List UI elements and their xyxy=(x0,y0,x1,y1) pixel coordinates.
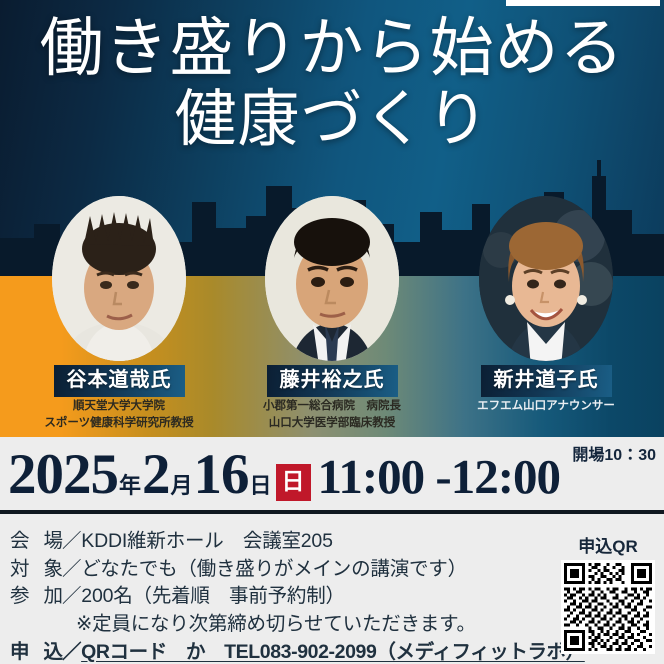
event-poster: 働き盛りから始める 健康づくり xyxy=(0,0,664,664)
qr-code[interactable] xyxy=(561,560,655,654)
speaker-portrait xyxy=(52,196,186,361)
event-month: 2 xyxy=(142,446,170,503)
detail-row-audience: 対象／どなたでも（働き盛りがメインの講演です） xyxy=(10,556,558,584)
event-details-section: 会場／KDDI維新ホール 会議室205 対象／どなたでも（働き盛りがメインの講演… xyxy=(0,514,664,664)
apply-separator: ／ xyxy=(62,641,81,663)
event-date-section: 開場10：30 2025 年 2 月 16 日 日 11:00 -12:00 xyxy=(0,437,664,512)
detail-label: 参加 xyxy=(10,583,62,611)
apply-label: 申込 xyxy=(10,639,62,664)
speaker-affiliation-line-1: エフエム山口アナウンサー xyxy=(446,399,646,414)
title-line-1: 働き盛りから始める xyxy=(0,14,664,83)
qr-block: 申込QR xyxy=(558,532,658,654)
detail-value: ／どなたでも（働き盛りがメインの講演です） xyxy=(62,558,467,580)
detail-row-apply: 申込／QRコード か TEL083-902-2099（メディフィットラボ） xyxy=(10,639,558,664)
poster-title: 働き盛りから始める 健康づくり xyxy=(0,14,664,154)
detail-label: 対象 xyxy=(10,556,62,584)
detail-row-venue: 会場／KDDI維新ホール 会議室205 xyxy=(10,528,558,556)
speaker-portrait xyxy=(479,196,613,361)
detail-label: 会場 xyxy=(10,528,62,556)
speaker-card: 谷本道哉氏 順天堂大学大学院 スポーツ健康科学研究所教授 xyxy=(19,196,219,431)
event-year: 2025 xyxy=(8,446,118,503)
portrait-illustration xyxy=(52,196,186,361)
month-unit-label: 月 xyxy=(170,475,194,497)
year-unit-label: 年 xyxy=(118,475,142,497)
portrait-illustration xyxy=(265,196,399,361)
day-of-week-badge: 日 xyxy=(276,464,311,501)
qr-label: 申込QR xyxy=(558,532,658,557)
apply-value[interactable]: QRコード か TEL083-902-2099（メディフィットラボ） xyxy=(81,641,585,663)
details-list: 会場／KDDI維新ホール 会議室205 対象／どなたでも（働き盛りがメインの講演… xyxy=(10,528,558,664)
capacity-note: ※定員になり次第締め切らせていただきます。 xyxy=(10,611,558,639)
detail-row-capacity: 参加／200名（先着順 事前予約制） xyxy=(10,583,558,611)
speaker-card: 新井道子氏 エフエム山口アナウンサー xyxy=(446,196,646,414)
event-time: 11:00 -12:00 xyxy=(318,452,561,501)
speaker-list: 谷本道哉氏 順天堂大学大学院 スポーツ健康科学研究所教授 xyxy=(0,196,664,437)
speaker-affiliation-line-1: 順天堂大学大学院 xyxy=(19,399,219,414)
speaker-affiliation-line-1: 小郡第一総合病院 病院長 xyxy=(232,399,432,414)
speaker-portrait xyxy=(265,196,399,361)
doors-open-time: 開場10：30 xyxy=(572,441,656,465)
title-line-2: 健康づくり xyxy=(0,87,664,154)
detail-value: ／KDDI維新ホール 会議室205 xyxy=(62,530,333,552)
speaker-name: 藤井裕之氏 xyxy=(267,365,398,397)
speaker-name: 新井道子氏 xyxy=(481,365,612,397)
qr-code-icon xyxy=(564,563,652,651)
event-datetime: 2025 年 2 月 16 日 日 11:00 -12:00 xyxy=(8,446,560,505)
portrait-illustration xyxy=(479,196,613,361)
speaker-affiliation-line-2: スポーツ健康科学研究所教授 xyxy=(19,416,219,431)
day-unit-label: 日 xyxy=(249,475,273,497)
event-day: 16 xyxy=(194,446,249,503)
top-accent-bar xyxy=(506,0,660,6)
speaker-card: 藤井裕之氏 小郡第一総合病院 病院長 山口大学医学部臨床教授 xyxy=(232,196,432,431)
detail-value: ／200名（先着順 事前予約制） xyxy=(62,585,345,607)
speaker-affiliation-line-2: 山口大学医学部臨床教授 xyxy=(232,416,432,431)
speaker-name: 谷本道哉氏 xyxy=(54,365,185,397)
